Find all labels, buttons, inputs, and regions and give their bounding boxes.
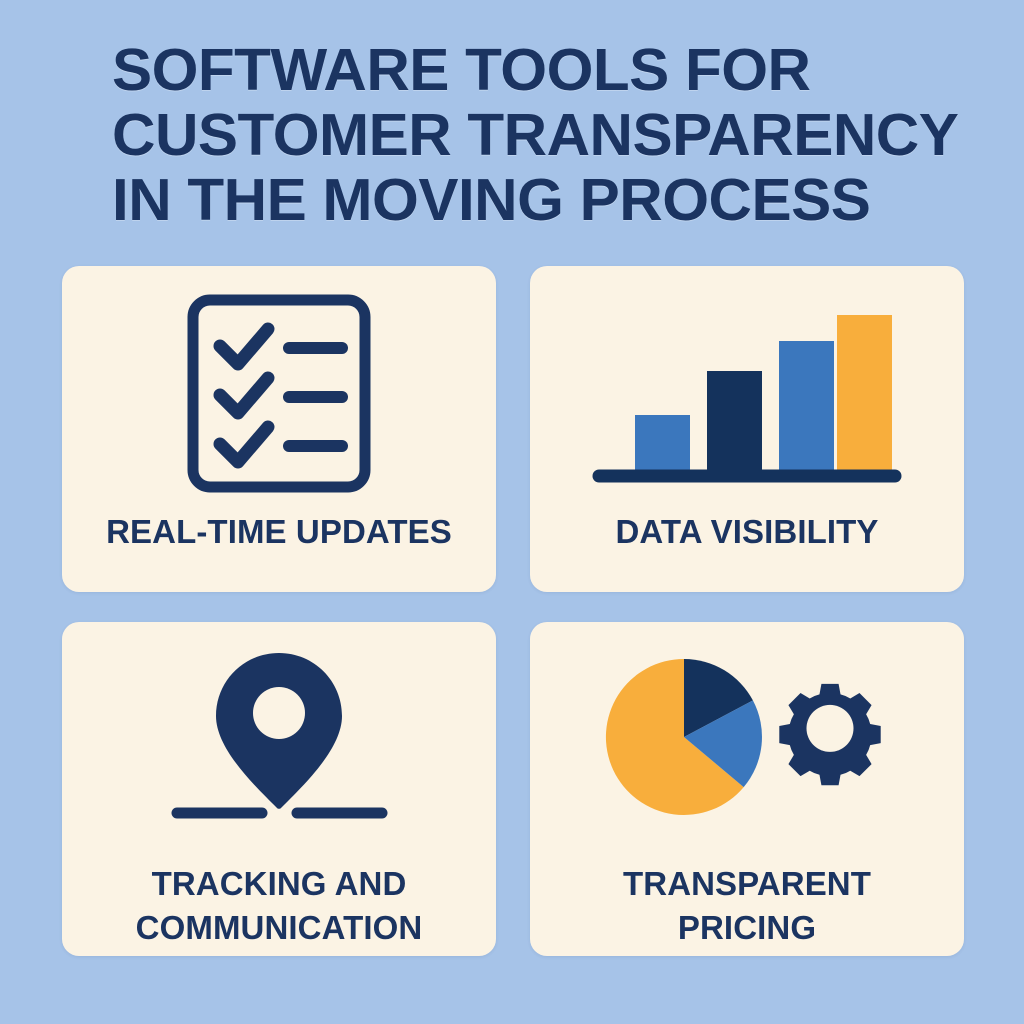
bar-2 [707,371,762,472]
poster-canvas: SOFTWARE TOOLS FOR CUSTOMER TRANSPARENCY… [0,0,1024,1024]
feature-card-grid: REAL-TIME UPDATES DATA VISIBILITY [62,266,964,956]
card-label: REAL-TIME UPDATES [62,510,496,554]
card-label: TRANSPARENT PRICING [530,862,964,950]
bar-1 [635,415,690,472]
card-data-visibility[interactable]: DATA VISIBILITY [530,266,964,592]
pie-chart-gear-icon [530,622,964,844]
title-line-1: SOFTWARE TOOLS FOR [112,38,948,103]
card-transparent-pricing[interactable]: TRANSPARENT PRICING [530,622,964,956]
card-tracking-and-communication[interactable]: TRACKING AND COMMUNICATION [62,622,496,956]
pie-chart [606,659,762,815]
title-line-3: IN THE MOVING PROCESS [112,168,948,233]
page-title: SOFTWARE TOOLS FOR CUSTOMER TRANSPARENCY… [112,38,932,233]
card-label: DATA VISIBILITY [530,510,964,554]
bar-3 [779,341,834,472]
location-pin-icon [62,622,496,844]
card-real-time-updates[interactable]: REAL-TIME UPDATES [62,266,496,592]
card-label: TRACKING AND COMMUNICATION [62,862,496,950]
checklist-icon [62,266,496,508]
gear-icon [779,684,880,785]
bar-4 [837,315,892,472]
title-line-2: CUSTOMER TRANSPARENCY [112,103,948,168]
bar-chart-icon [530,266,964,508]
